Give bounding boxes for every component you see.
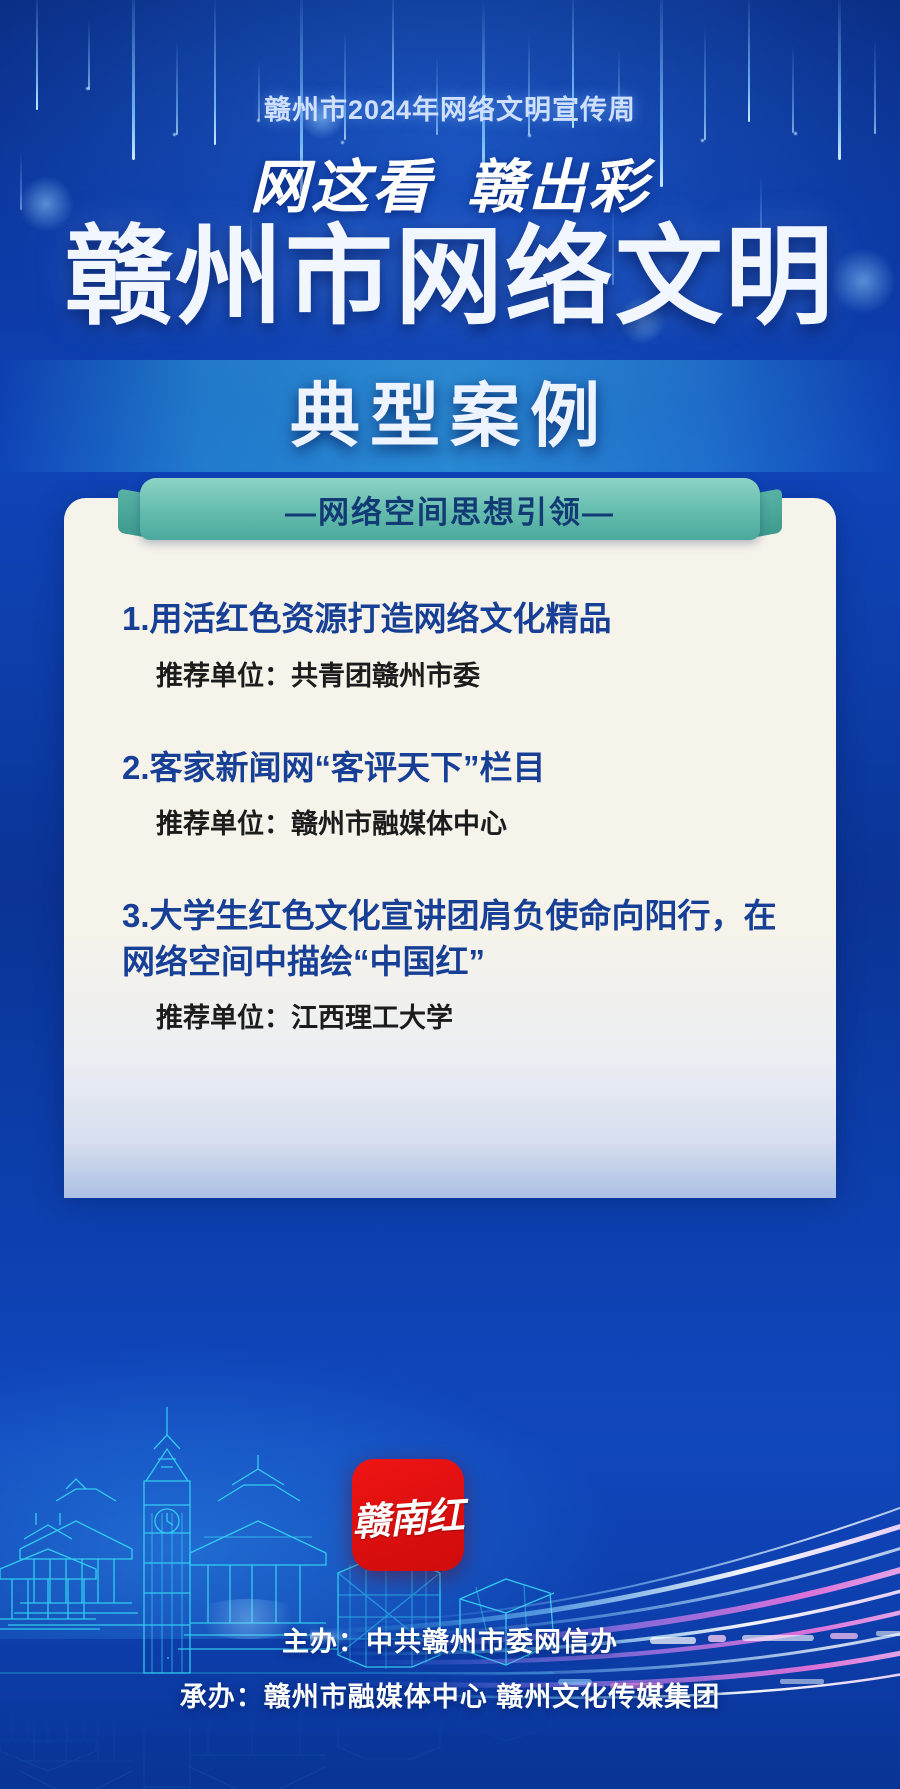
slogan: 网这看赣出彩 <box>0 140 900 224</box>
case-index: 2. <box>122 749 150 786</box>
case-title: 3.大学生红色文化宣讲团肩负使命向阳行，在网络空间中描绘“中国红” <box>64 893 836 984</box>
cases-list: 1.用活红色资源打造网络文化精品 推荐单位：共青团赣州市委 2.客家新闻网“客评… <box>64 596 836 1087</box>
poster-root: 赣州市2024年网络文明宣传周 网这看赣出彩 赣州市网络文明 典型案例 —网络空… <box>0 0 900 1789</box>
logo-text: 赣南红 <box>351 1484 466 1547</box>
footer: 主办：中共赣州市委网信办 承办：赣州市融媒体中心 赣州文化传媒集团 <box>0 1620 900 1714</box>
footer-co-organizer: 承办：赣州市融媒体中心 赣州文化传媒集团 <box>0 1675 900 1714</box>
case-index: 3. <box>122 897 150 934</box>
list-item: 1.用活红色资源打造网络文化精品 推荐单位：共青团赣州市委 <box>64 596 836 693</box>
section-ribbon-label: —网络空间思想引领— <box>140 478 760 540</box>
slogan-right: 赣出彩 <box>467 155 650 220</box>
case-unit: 推荐单位：江西理工大学 <box>64 996 836 1035</box>
case-index: 1. <box>122 600 150 637</box>
case-unit: 推荐单位：赣州市融媒体中心 <box>64 802 836 841</box>
case-title-text: 大学生红色文化宣讲团肩负使命向阳行，在网络空间中描绘“中国红” <box>122 897 777 980</box>
case-unit: 推荐单位：共青团赣州市委 <box>64 654 836 693</box>
page-title: 赣州市网络文明 <box>0 220 900 333</box>
ganan-hong-logo: 赣南红 <box>352 1459 464 1571</box>
case-title-text: 客家新闻网“客评天下”栏目 <box>150 749 546 786</box>
list-item: 2.客家新闻网“客评天下”栏目 推荐单位：赣州市融媒体中心 <box>64 745 836 842</box>
page-subtitle: 典型案例 <box>0 360 900 461</box>
case-title-text: 用活红色资源打造网络文化精品 <box>150 600 612 637</box>
slogan-left: 网这看 <box>250 155 433 220</box>
list-item: 3.大学生红色文化宣讲团肩负使命向阳行，在网络空间中描绘“中国红” 推荐单位：江… <box>64 893 836 1035</box>
case-title: 2.客家新闻网“客评天下”栏目 <box>64 745 836 791</box>
event-kicker: 赣州市2024年网络文明宣传周 <box>0 88 900 127</box>
case-title: 1.用活红色资源打造网络文化精品 <box>64 596 836 642</box>
footer-organizer: 主办：中共赣州市委网信办 <box>0 1620 900 1659</box>
